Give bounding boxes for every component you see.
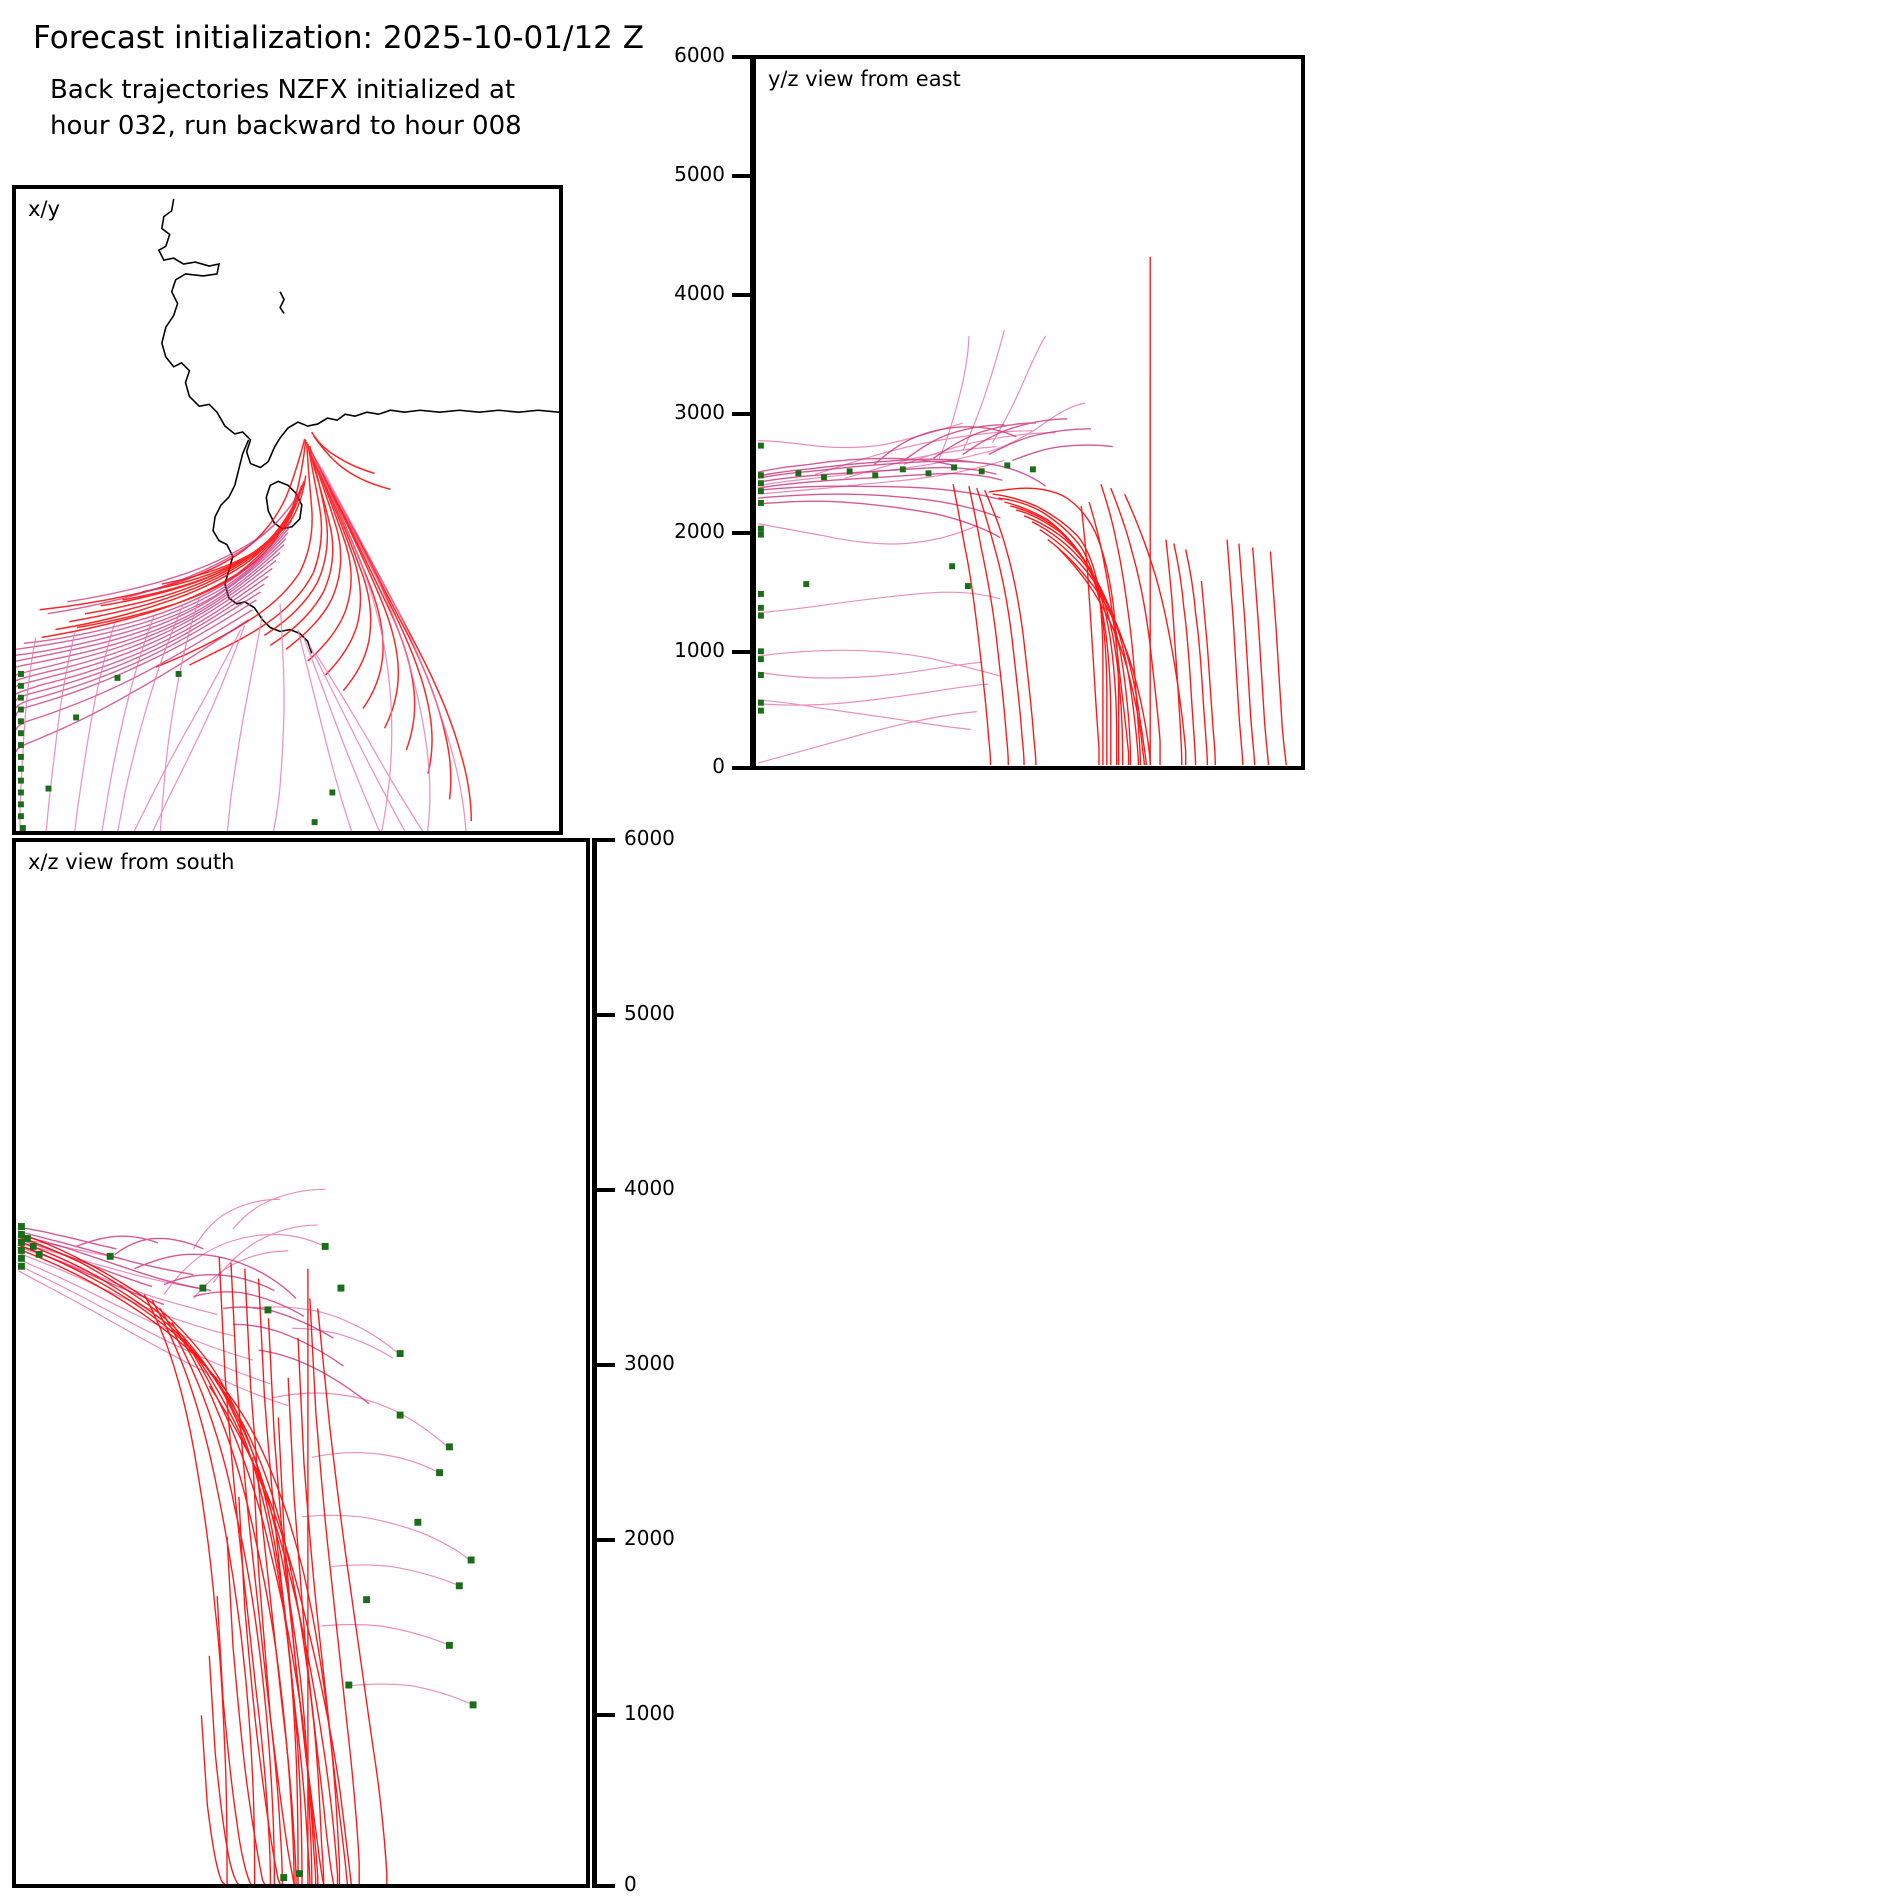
axis-yz: 6000 5000 4000 3000 2000 1000 0: [660, 55, 755, 770]
axis-yz-ticklabel-3000: 3000: [674, 400, 725, 424]
axis-yz-tick-2000: [732, 531, 750, 535]
page-subtitle: Back trajectories NZFX initialized at ho…: [50, 72, 522, 144]
axis-xz-ticklabel-4000: 4000: [624, 1176, 675, 1200]
axis-yz-tick-4000: [732, 293, 750, 297]
panel-xz[interactable]: x/z view from south: [12, 838, 590, 1888]
axis-yz-ticklabel-0: 0: [712, 754, 725, 778]
axis-xz-tick-1000: [597, 1713, 615, 1717]
axis-yz-ticklabel-4000: 4000: [674, 281, 725, 305]
panel-yz-label: y/z view from east: [768, 67, 961, 91]
panel-xy-plot: [16, 189, 559, 831]
axis-xz-ticklabel-5000: 5000: [624, 1001, 675, 1025]
trajectory-lines-mid: [16, 487, 302, 752]
axis-yz-ticklabel-5000: 5000: [674, 162, 725, 186]
trajectory-lines-recent: [40, 432, 472, 821]
trajectory-lines-mid: [18, 1227, 369, 1404]
page-subtitle-line-1: Back trajectories NZFX initialized at: [50, 72, 522, 108]
axis-xz-tick-2000: [597, 1538, 615, 1542]
axis-yz-ticklabel-2000: 2000: [674, 519, 725, 543]
panel-xz-plot: [16, 842, 586, 1884]
axis-yz-tick-0: [732, 766, 750, 770]
axis-yz-ticklabel-1000: 1000: [674, 638, 725, 662]
page-subtitle-line-2: hour 032, run backward to hour 008: [50, 108, 522, 144]
axis-xz-ticklabel-3000: 3000: [624, 1351, 675, 1375]
trajectory-lines-old: [18, 1189, 470, 1703]
page-title: Forecast initialization: 2025-10-01/12 Z: [33, 20, 644, 56]
axis-yz-tick-5000: [732, 174, 750, 178]
axis-xz: 6000 5000 4000 3000 2000 1000 0: [592, 838, 712, 1888]
panel-xz-label: x/z view from south: [28, 850, 234, 874]
trajectory-lines-old: [758, 330, 1085, 763]
trajectory-plot-page: Forecast initialization: 2025-10-01/12 Z…: [0, 0, 1900, 1900]
panel-yz[interactable]: y/z view from east: [752, 55, 1305, 770]
axis-yz-spine: [750, 55, 755, 770]
axis-yz-tick-1000: [732, 650, 750, 654]
axis-xz-ticklabel-0: 0: [624, 1872, 637, 1896]
axis-yz-tick-3000: [732, 412, 750, 416]
axis-xz-tick-6000: [597, 838, 615, 842]
axis-xz-ticklabel-1000: 1000: [624, 1701, 675, 1725]
axis-xz-tick-3000: [597, 1363, 615, 1367]
trajectory-lines-recent: [18, 1233, 387, 1884]
axis-xz-ticklabel-2000: 2000: [624, 1526, 675, 1550]
axis-xz-tick-5000: [597, 1013, 615, 1017]
axis-yz-ticklabel-6000: 6000: [674, 43, 725, 67]
axis-xz-ticklabel-6000: 6000: [624, 826, 675, 850]
axis-xz-tick-0: [597, 1884, 615, 1888]
panel-yz-plot: [756, 59, 1301, 766]
axis-yz-tick-6000: [732, 55, 750, 59]
axis-xz-tick-4000: [597, 1188, 615, 1192]
panel-xy[interactable]: x/y: [12, 185, 563, 835]
panel-xy-label: x/y: [28, 197, 60, 221]
